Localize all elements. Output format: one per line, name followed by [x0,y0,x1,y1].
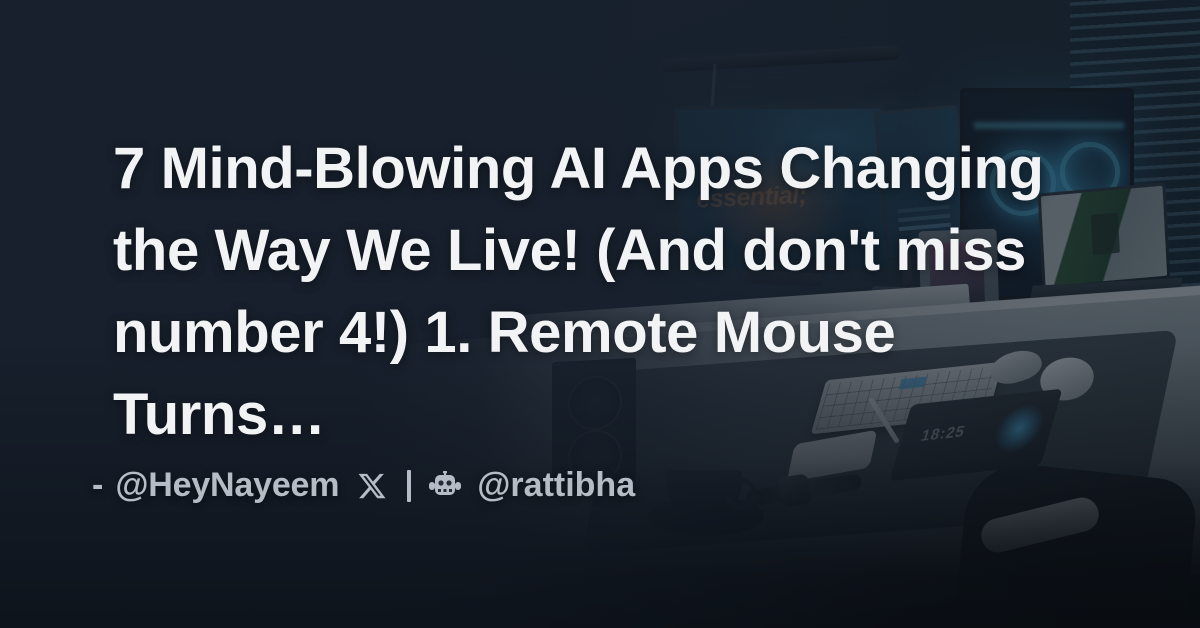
attribution-dash: - [92,466,103,505]
title-line-3: number 4!) 1. Remote Mouse Turns… [113,292,1103,456]
headline-block: 7 Mind-Blowing AI Apps Changing the Way … [113,128,1103,456]
attribution-bar: - @HeyNayeem @rattibha [92,466,635,505]
robot-icon [427,471,463,501]
platform-handle[interactable]: @rattibha [477,466,635,505]
title-line-1: 7 Mind-Blowing AI Apps Changing [113,128,1103,210]
attribution-separator [407,470,411,502]
author-handle[interactable]: @HeyNayeem [115,466,339,505]
share-card: essential; [0,0,1200,628]
x-logo-icon [357,471,387,501]
title-line-2: the Way We Live! (And don't miss [113,210,1103,292]
